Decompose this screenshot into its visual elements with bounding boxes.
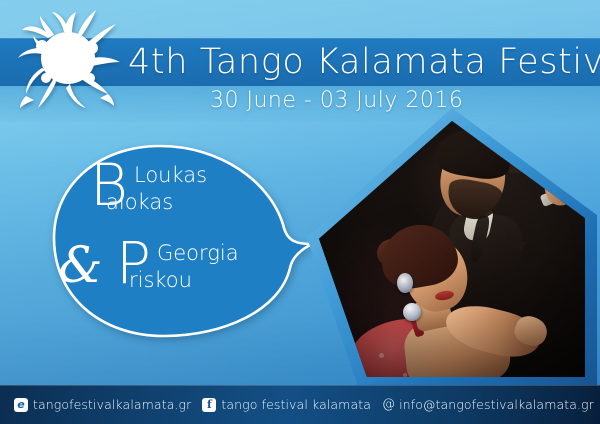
page-title: 4th Tango Kalamata Festival <box>128 38 588 86</box>
performer-2-first-name: Georgia <box>157 242 239 264</box>
footer-email-label: info@tangofestivalkalamata.gr <box>399 397 594 412</box>
performer-1-last-name: alokas <box>106 191 207 213</box>
footer-divider <box>0 385 600 386</box>
contact-footer: e tangofestivalkalamata.gr f tango festi… <box>0 385 600 424</box>
footer-facebook[interactable]: f tango festival kalamata <box>202 397 371 412</box>
dancing-figures-logo-icon <box>12 8 124 116</box>
footer-facebook-label: tango festival kalamata <box>221 397 371 412</box>
facebook-icon: f <box>202 398 216 412</box>
photo-image <box>319 121 585 377</box>
performer-1: B Loukas alokas <box>90 160 207 213</box>
performer-2: P Georgia riskou <box>116 238 239 291</box>
performer-1-first-name: Loukas <box>134 164 207 186</box>
performers-names: B Loukas alokas & P Georgia riskou <box>44 138 334 344</box>
footer-website[interactable]: e tangofestivalkalamata.gr <box>14 397 191 412</box>
performers-speech-bubble: B Loukas alokas & P Georgia riskou <box>44 138 334 344</box>
tango-dancers-photo <box>307 108 597 390</box>
at-sign-icon: @ <box>382 397 395 412</box>
performer-2-last-name: riskou <box>129 269 239 291</box>
photo-vignette <box>319 121 585 377</box>
internet-explorer-icon: e <box>14 398 28 412</box>
festival-poster: 4th Tango Kalamata Festival 30 June - 03… <box>0 0 600 424</box>
ampersand: & <box>58 240 103 290</box>
photo-art <box>319 121 585 377</box>
footer-website-label: tangofestivalkalamata.gr <box>33 397 191 412</box>
footer-email[interactable]: @ info@tangofestivalkalamata.gr <box>382 397 594 412</box>
